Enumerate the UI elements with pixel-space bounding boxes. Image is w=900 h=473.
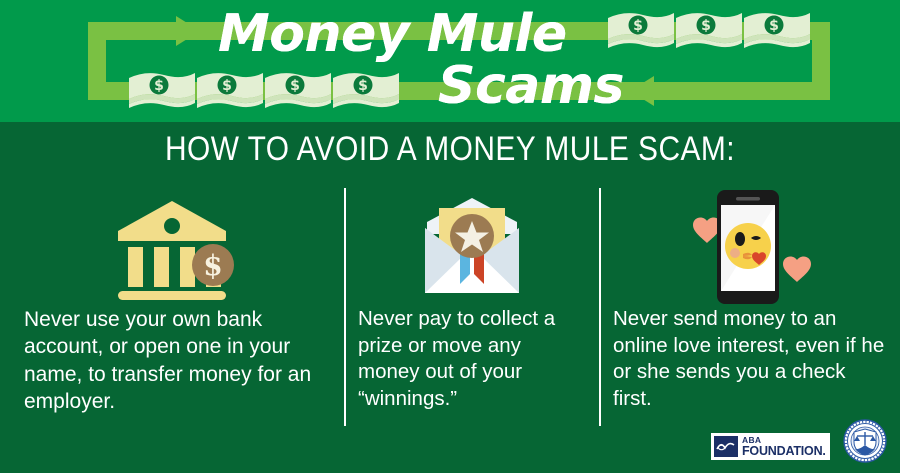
dollar-bill-icon: $ <box>673 8 745 57</box>
svg-text:$: $ <box>154 78 164 94</box>
heart-icon <box>783 257 811 282</box>
scales-of-justice-seal-icon[interactable] <box>843 419 887 463</box>
aba-logo-line-2: FOUNDATION. <box>742 445 826 458</box>
tip-text-prize: Never pay to collect a prize or move any… <box>358 306 585 413</box>
svg-text:$: $ <box>769 18 779 34</box>
svg-text:$: $ <box>290 78 300 94</box>
aba-foundation-logo[interactable]: ABA FOUNDATION. <box>711 433 830 460</box>
svg-text:$: $ <box>203 249 222 282</box>
bank-with-coin-icon: $ <box>110 188 235 306</box>
tip-text-bank: Never use your own bank account, or open… <box>24 306 320 415</box>
svg-text:$: $ <box>633 18 643 34</box>
dollar-bill-icon: $ <box>741 8 813 57</box>
title-line-1: Money Mule <box>218 4 567 64</box>
page-subheading: HOW TO AVOID A MONEY MULE SCAM: <box>54 130 846 169</box>
infographic-root: $ $ $ <box>0 0 900 473</box>
tips-container: $ Never use your own bank account, or op… <box>0 188 900 433</box>
arrow-left-icon <box>630 76 654 106</box>
smartphone-with-kiss-emoji-icon <box>667 188 832 306</box>
dollar-bill-icon: $ <box>126 68 198 117</box>
header-banner: $ $ $ <box>0 0 900 122</box>
title-line-2: Scams <box>438 56 624 116</box>
dollar-bill-icon: $ <box>605 8 677 57</box>
tip-column-bank: $ Never use your own bank account, or op… <box>0 188 344 433</box>
svg-text:$: $ <box>222 78 232 94</box>
tip-column-romance: Never send money to an online love inter… <box>599 188 900 433</box>
tip-text-romance: Never send money to an online love inter… <box>613 306 886 413</box>
svg-text:$: $ <box>358 78 368 94</box>
dollar-bill-icon: $ <box>194 68 266 117</box>
tip-column-prize: Never pay to collect a prize or move any… <box>344 188 599 433</box>
aba-monogram-icon <box>714 436 738 457</box>
dollar-bill-icon: $ <box>262 68 334 117</box>
arrow-right-icon <box>176 16 200 46</box>
aba-logo-line-1: ABA <box>742 436 826 445</box>
aba-wordmark: ABA FOUNDATION. <box>742 436 826 458</box>
dollar-bill-icon: $ <box>330 68 402 117</box>
heart-icon <box>693 218 721 243</box>
envelope-with-prize-certificate-icon <box>407 188 537 306</box>
svg-text:$: $ <box>701 18 711 34</box>
